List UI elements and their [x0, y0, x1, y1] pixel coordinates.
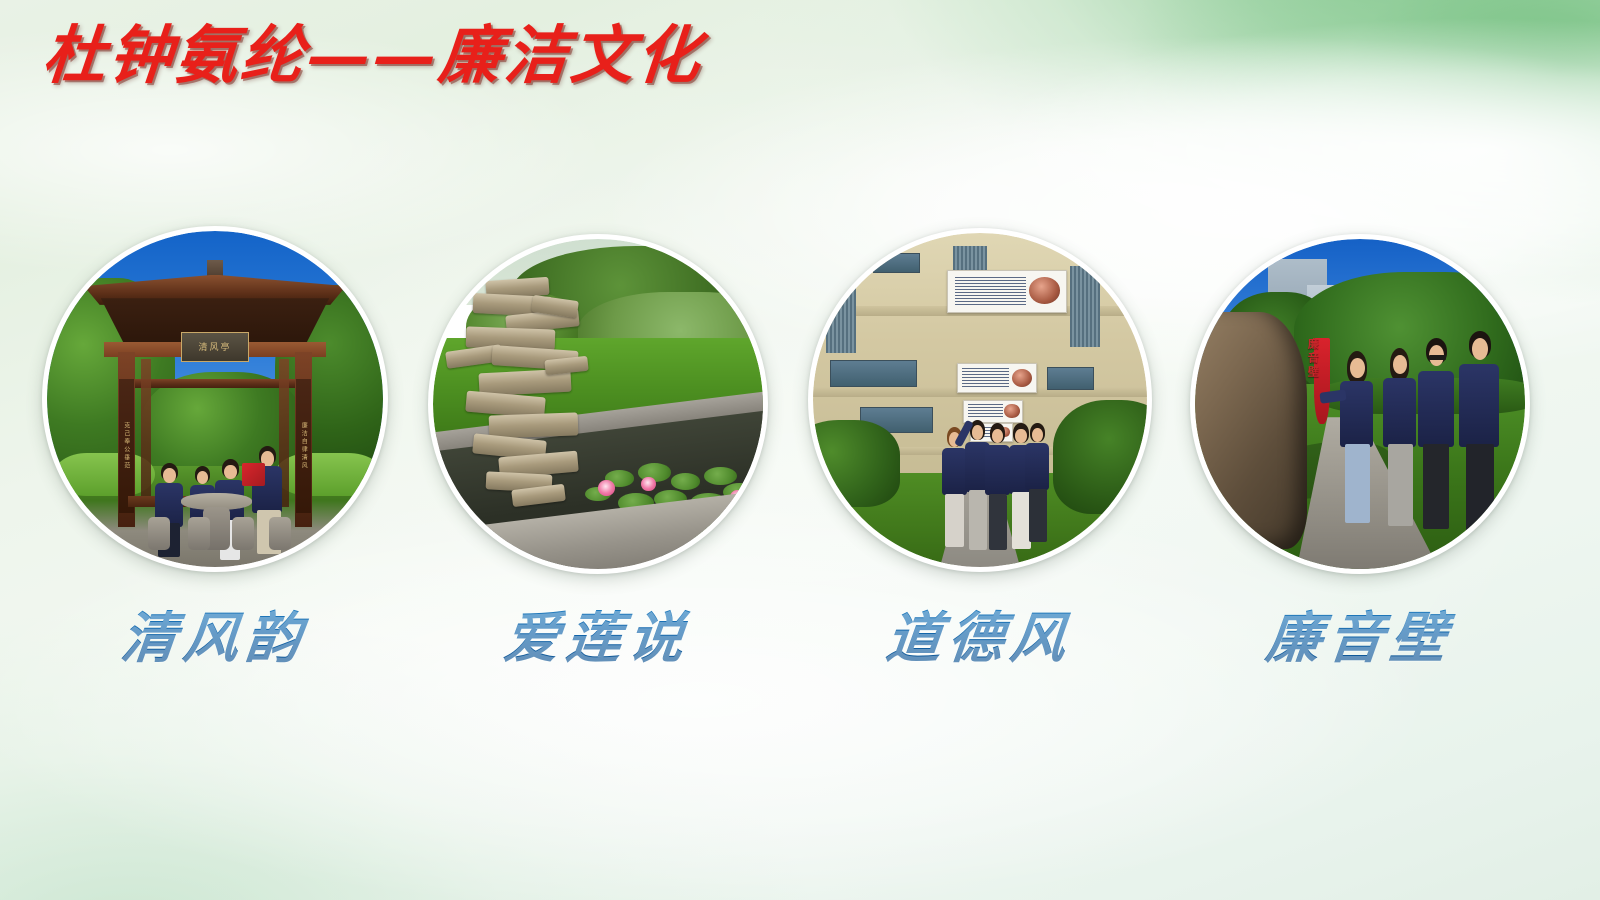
- stone-stool-4: [269, 517, 291, 551]
- stone-stool-3: [232, 517, 254, 551]
- scene-lotus-pond: [433, 239, 763, 569]
- glasses-icon: [1429, 355, 1446, 360]
- hedge-right: [275, 453, 383, 497]
- photo-image-inscribed-stone: 廉音壁: [1195, 239, 1525, 569]
- column-left-inner: [141, 359, 151, 507]
- culture-sign-2: [957, 363, 1037, 393]
- scene-red-arches: [813, 233, 1147, 567]
- scene-inscribed-stone: 廉音壁: [1195, 239, 1525, 569]
- pavilion-plaque: 清风亭: [181, 332, 248, 362]
- facade-louvre-3: [1070, 266, 1100, 346]
- couplet-left: 克己奉公垂范: [119, 379, 134, 513]
- culture-sign-3: [963, 400, 1023, 423]
- bush-left: [813, 420, 900, 507]
- held-booklet: [242, 463, 266, 487]
- photo-image-lotus-pond: [433, 239, 763, 569]
- photo-image-red-arches: [813, 233, 1147, 567]
- gallery-caption-1: 清风韵: [38, 593, 392, 673]
- facade-louvre-1: [826, 280, 856, 353]
- scene-pavilion: 清风亭 克己奉公垂范 廉洁自律清风: [47, 231, 383, 567]
- window-row-1: [830, 360, 917, 387]
- hedge-left: [54, 453, 155, 497]
- couplet-right: 廉洁自律清风: [296, 379, 311, 513]
- gallery-caption-3: 道德风: [804, 593, 1156, 673]
- window-row-3: [873, 253, 920, 273]
- bush-right: [1053, 400, 1147, 514]
- stone-carving-text: 廉音壁: [1254, 338, 1320, 483]
- gallery-caption-4: 廉音壁: [1186, 593, 1534, 673]
- window-row-4: [1047, 367, 1094, 390]
- culture-sign-1: [947, 270, 1067, 313]
- gallery-caption-2: 爱莲说: [424, 593, 772, 673]
- photo-circle-pavilion[interactable]: 清风亭 克己奉公垂范 廉洁自律清风: [42, 226, 388, 572]
- slide-canvas: 杜钟氨纶——廉洁文化: [0, 0, 1600, 900]
- photo-circle-lotus-pond[interactable]: [428, 234, 768, 574]
- photo-gallery: 清风亭 克己奉公垂范 廉洁自律清风: [0, 0, 1600, 900]
- photo-circle-red-arches[interactable]: [808, 228, 1152, 572]
- photo-image-pavilion: 清风亭 克己奉公垂范 廉洁自律清风: [47, 231, 383, 567]
- stone-stool-1: [148, 517, 170, 551]
- stone-stool-2: [188, 517, 210, 551]
- photo-circle-inscribed-stone[interactable]: 廉音壁: [1190, 234, 1530, 574]
